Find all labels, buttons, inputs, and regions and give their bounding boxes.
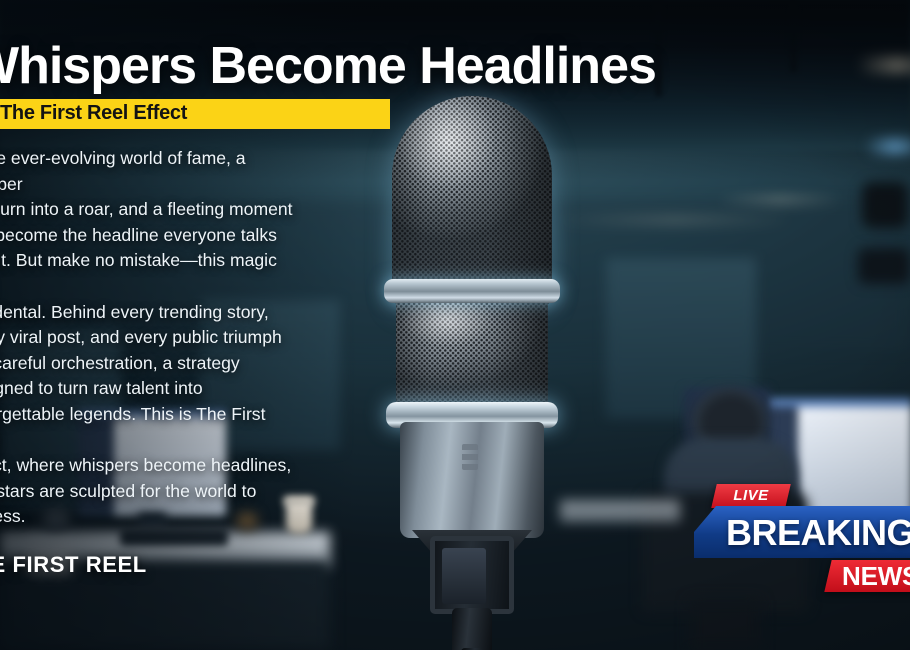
body-paragraph: In the ever-evolving world of fame, a wh… bbox=[0, 146, 302, 530]
live-badge: LIVE bbox=[711, 484, 791, 508]
breaking-banner: BREAKING bbox=[694, 506, 910, 558]
subtitle-bar: The First Reel Effect bbox=[0, 99, 390, 129]
brand-wordmark: THE FIRST REEL bbox=[0, 552, 147, 578]
studio-microphone bbox=[372, 96, 572, 650]
microphone-grille-lower bbox=[396, 296, 548, 411]
microphone-mount bbox=[452, 608, 492, 650]
page-title: Whispers Become Headlines bbox=[0, 36, 656, 96]
microphone-logo-icon bbox=[462, 444, 478, 470]
grille-shading bbox=[396, 296, 548, 411]
news-label: NEWS bbox=[828, 560, 910, 592]
live-label: LIVE bbox=[714, 484, 788, 508]
breaking-label: BREAKING bbox=[726, 512, 910, 554]
breaking-news-lower-third: LIVE BREAKING NEWS bbox=[694, 484, 910, 594]
poster-canvas: Whispers Become Headlines The First Reel… bbox=[0, 0, 910, 650]
news-banner: NEWS bbox=[824, 560, 910, 592]
microphone-clip-inner bbox=[442, 548, 486, 604]
subtitle-text: The First Reel Effect bbox=[0, 102, 187, 125]
microphone-body bbox=[400, 422, 544, 538]
microphone-ring bbox=[384, 279, 560, 303]
